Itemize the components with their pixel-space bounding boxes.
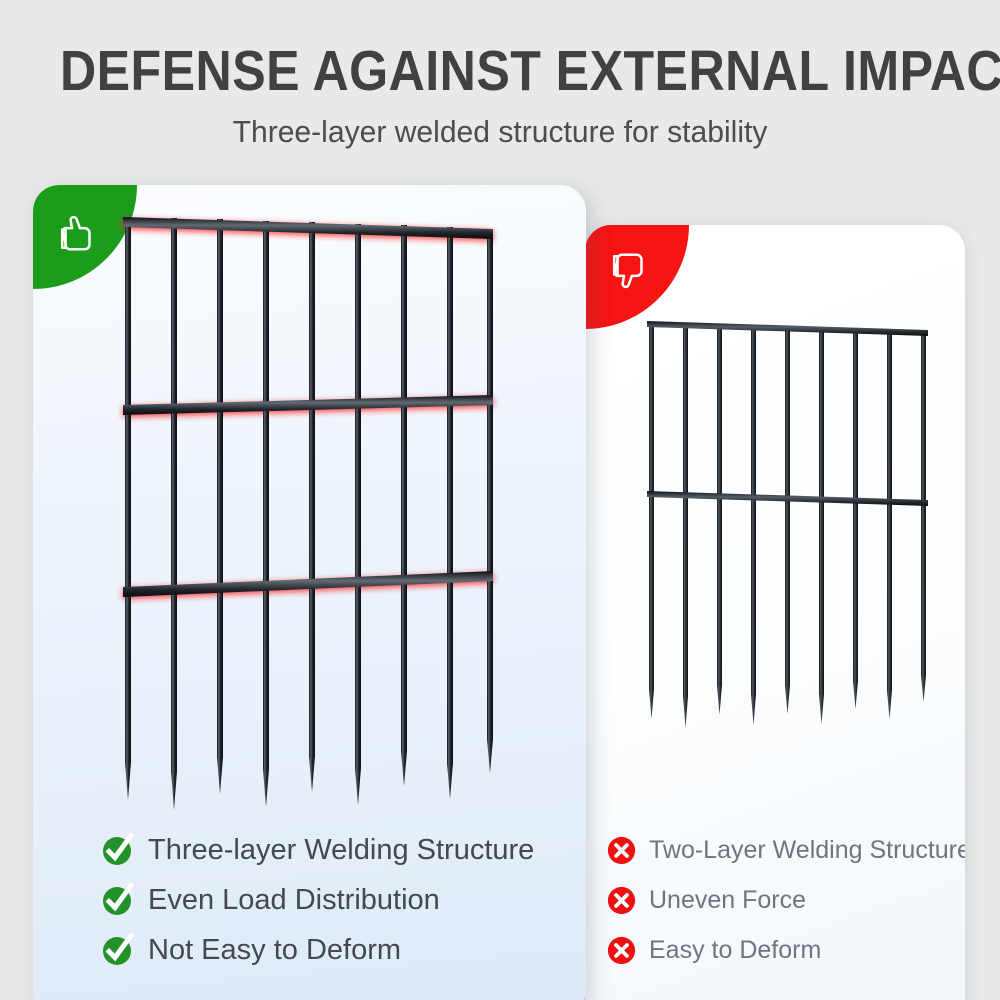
bad-badge [585,225,689,329]
list-item: Even Load Distribution [100,875,534,925]
list-item: Easy to Deform [607,925,965,975]
infographic-root: DEFENSE AGAINST EXTERNAL IMPACT Three-la… [0,0,1000,1000]
x-circle-icon [607,886,636,915]
comparison-card-bad: Two-Layer Welding Structure Uneven Force… [585,225,965,1000]
list-item-label: Two-Layer Welding Structure [649,836,965,865]
page-subtitle: Three-layer welded structure for stabili… [15,114,985,150]
x-circle-icon [607,936,636,965]
good-feature-list: Three-layer Welding Structure Even Load … [100,825,534,975]
list-item-label: Even Load Distribution [148,884,440,917]
thumbs-up-icon [55,209,101,255]
check-circle-icon [100,833,134,867]
list-item: Not Easy to Deform [100,925,534,975]
thumbs-down-icon [607,249,653,295]
check-circle-icon [100,883,134,917]
list-item-label: Three-layer Welding Structure [148,834,534,867]
list-item: Two-Layer Welding Structure [607,825,965,875]
fence-panel-three-layer [121,205,521,825]
list-item-label: Easy to Deform [649,936,821,965]
check-circle-icon [100,933,134,967]
header: DEFENSE AGAINST EXTERNAL IMPACT Three-la… [0,0,1000,150]
page-title: DEFENSE AGAINST EXTERNAL IMPACT [60,40,940,102]
list-item-label: Not Easy to Deform [148,934,401,967]
list-item: Uneven Force [607,875,965,925]
x-circle-icon [607,836,636,865]
list-item-label: Uneven Force [649,886,806,915]
comparison-card-good: Three-layer Welding Structure Even Load … [33,185,586,1000]
list-item: Three-layer Welding Structure [100,825,534,875]
fence-panel-two-layer [643,315,943,755]
bad-feature-list: Two-Layer Welding Structure Uneven Force… [607,825,965,975]
